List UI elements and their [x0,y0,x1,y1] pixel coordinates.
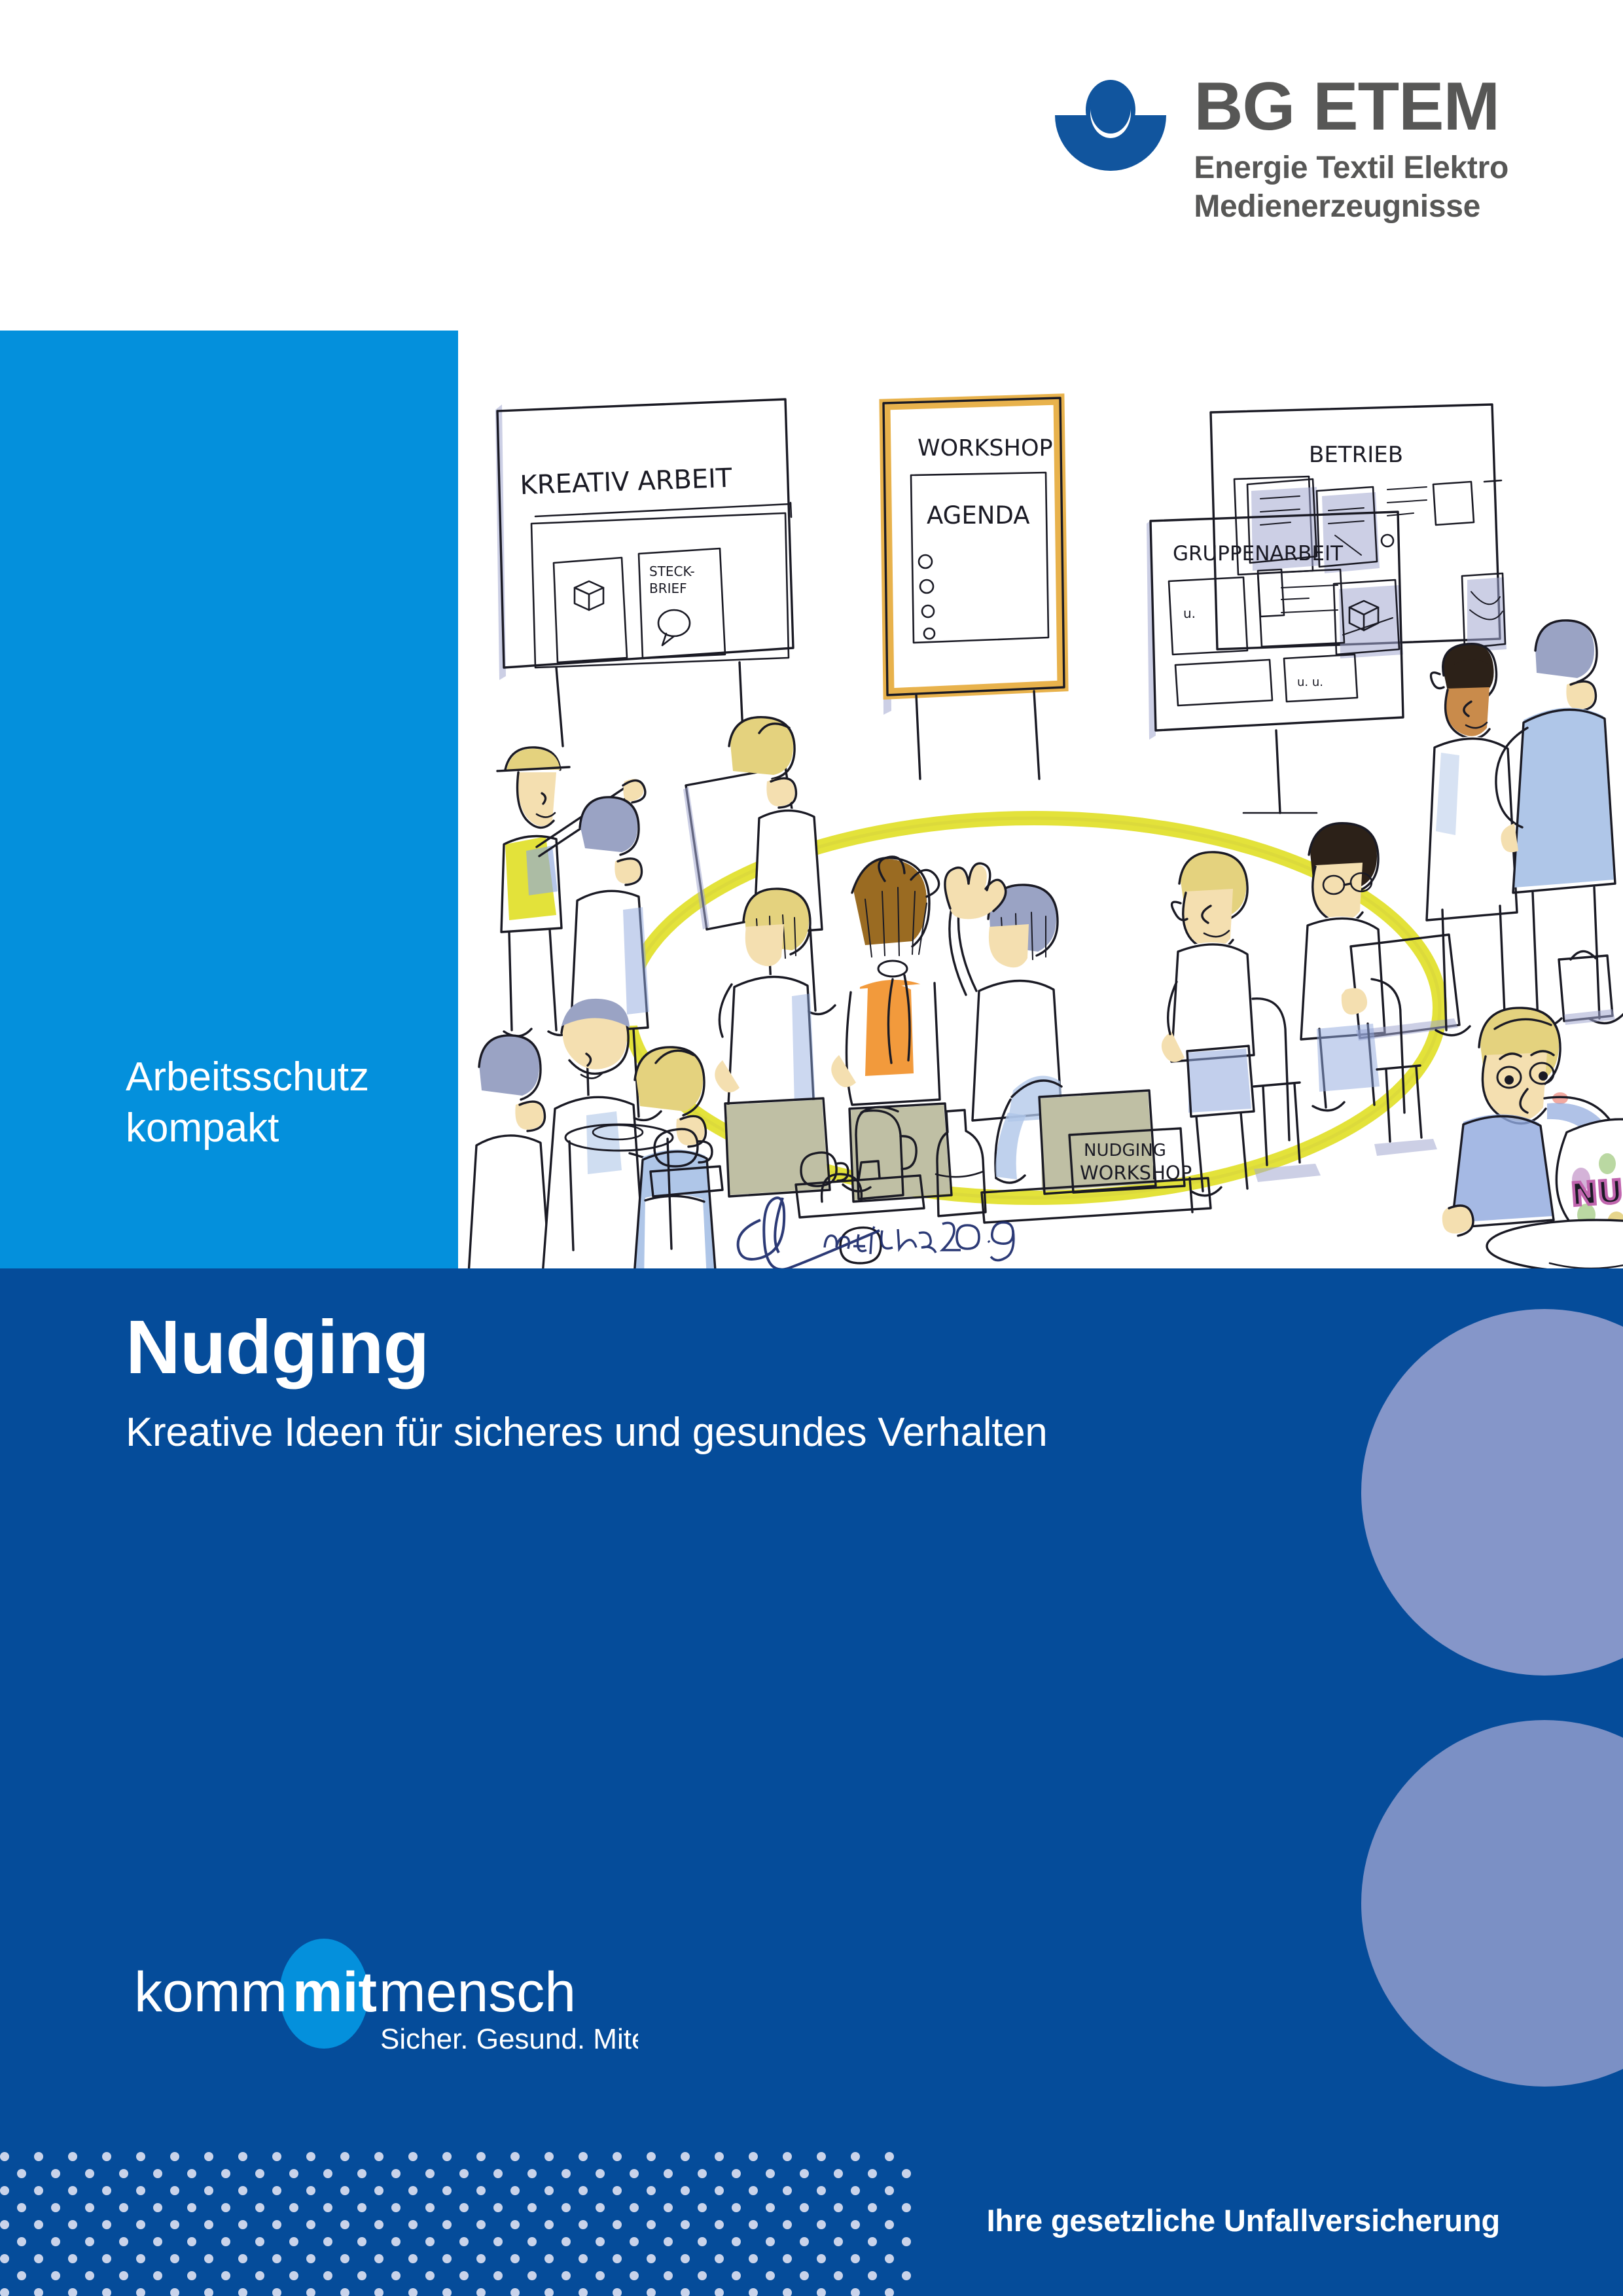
svg-text:u.: u. [1183,605,1196,621]
svg-text:u. u.: u. u. [1297,675,1323,689]
person-front-left-a [467,1035,551,1270]
svg-text:AGENDA: AGENDA [927,501,1030,529]
publisher-subline-1: Energie Textil Elektro [1194,149,1508,188]
svg-text:BETRIEB: BETRIEB [1309,442,1403,468]
dot-pattern [0,2152,916,2296]
svg-text:NUDGING: NUDGING [1084,1141,1166,1160]
publisher-subline-2: Medienerzeugnisse [1194,188,1508,226]
page-subtitle: Kreative Ideen für sicheres und gesundes… [126,1407,1048,1458]
series-label-line-1: Arbeitsschutz [126,1052,369,1103]
person-front-left-c [633,1047,716,1270]
campaign-logo: komm mit mensch Sicher. Gesund. Miteinan… [115,1936,638,2067]
footer-claim: Ihre gesetzliche Unfallversicherung [987,2202,1500,2238]
publisher-logo: BG ETEM Energie Textil Elektro Medienerz… [1052,72,1508,226]
svg-text:GRUPPENARBEIT: GRUPPENARBEIT [1173,542,1344,565]
bg-etem-logo-mark [1052,79,1169,198]
cover-main-block: Nudging Kreative Ideen für sicheres und … [0,1268,1623,2296]
decor-circle-bottom [1361,1720,1623,2087]
cover-illustration: .ink { fill:none; stroke:#1a1a24; stroke… [458,327,1623,1270]
title-group: Nudging Kreative Ideen für sicheres und … [126,1309,1048,1458]
page-title: Nudging [126,1309,1048,1385]
series-label: Arbeitsschutz kompakt [126,1052,369,1154]
campaign-logo-word-komm: komm [134,1961,287,2024]
campaign-logo-word-mensch: mensch [379,1961,576,2024]
svg-text:BRIEF: BRIEF [649,581,687,596]
publisher-logo-text: BG ETEM Energie Textil Elektro Medienerz… [1194,72,1508,226]
series-panel: Arbeitsschutz kompakt [0,331,458,1268]
series-label-line-2: kompakt [126,1103,369,1154]
svg-text:STECK-: STECK- [649,564,695,579]
publisher-wordmark: BG ETEM [1194,72,1508,141]
svg-text:WORKSHOP: WORKSHOP [918,435,1053,461]
campaign-logo-tagline: Sicher. Gesund. Miteinander. [380,2023,638,2055]
decor-circle-top [1361,1309,1623,1676]
campaign-logo-word-mit: mit [293,1961,377,2024]
